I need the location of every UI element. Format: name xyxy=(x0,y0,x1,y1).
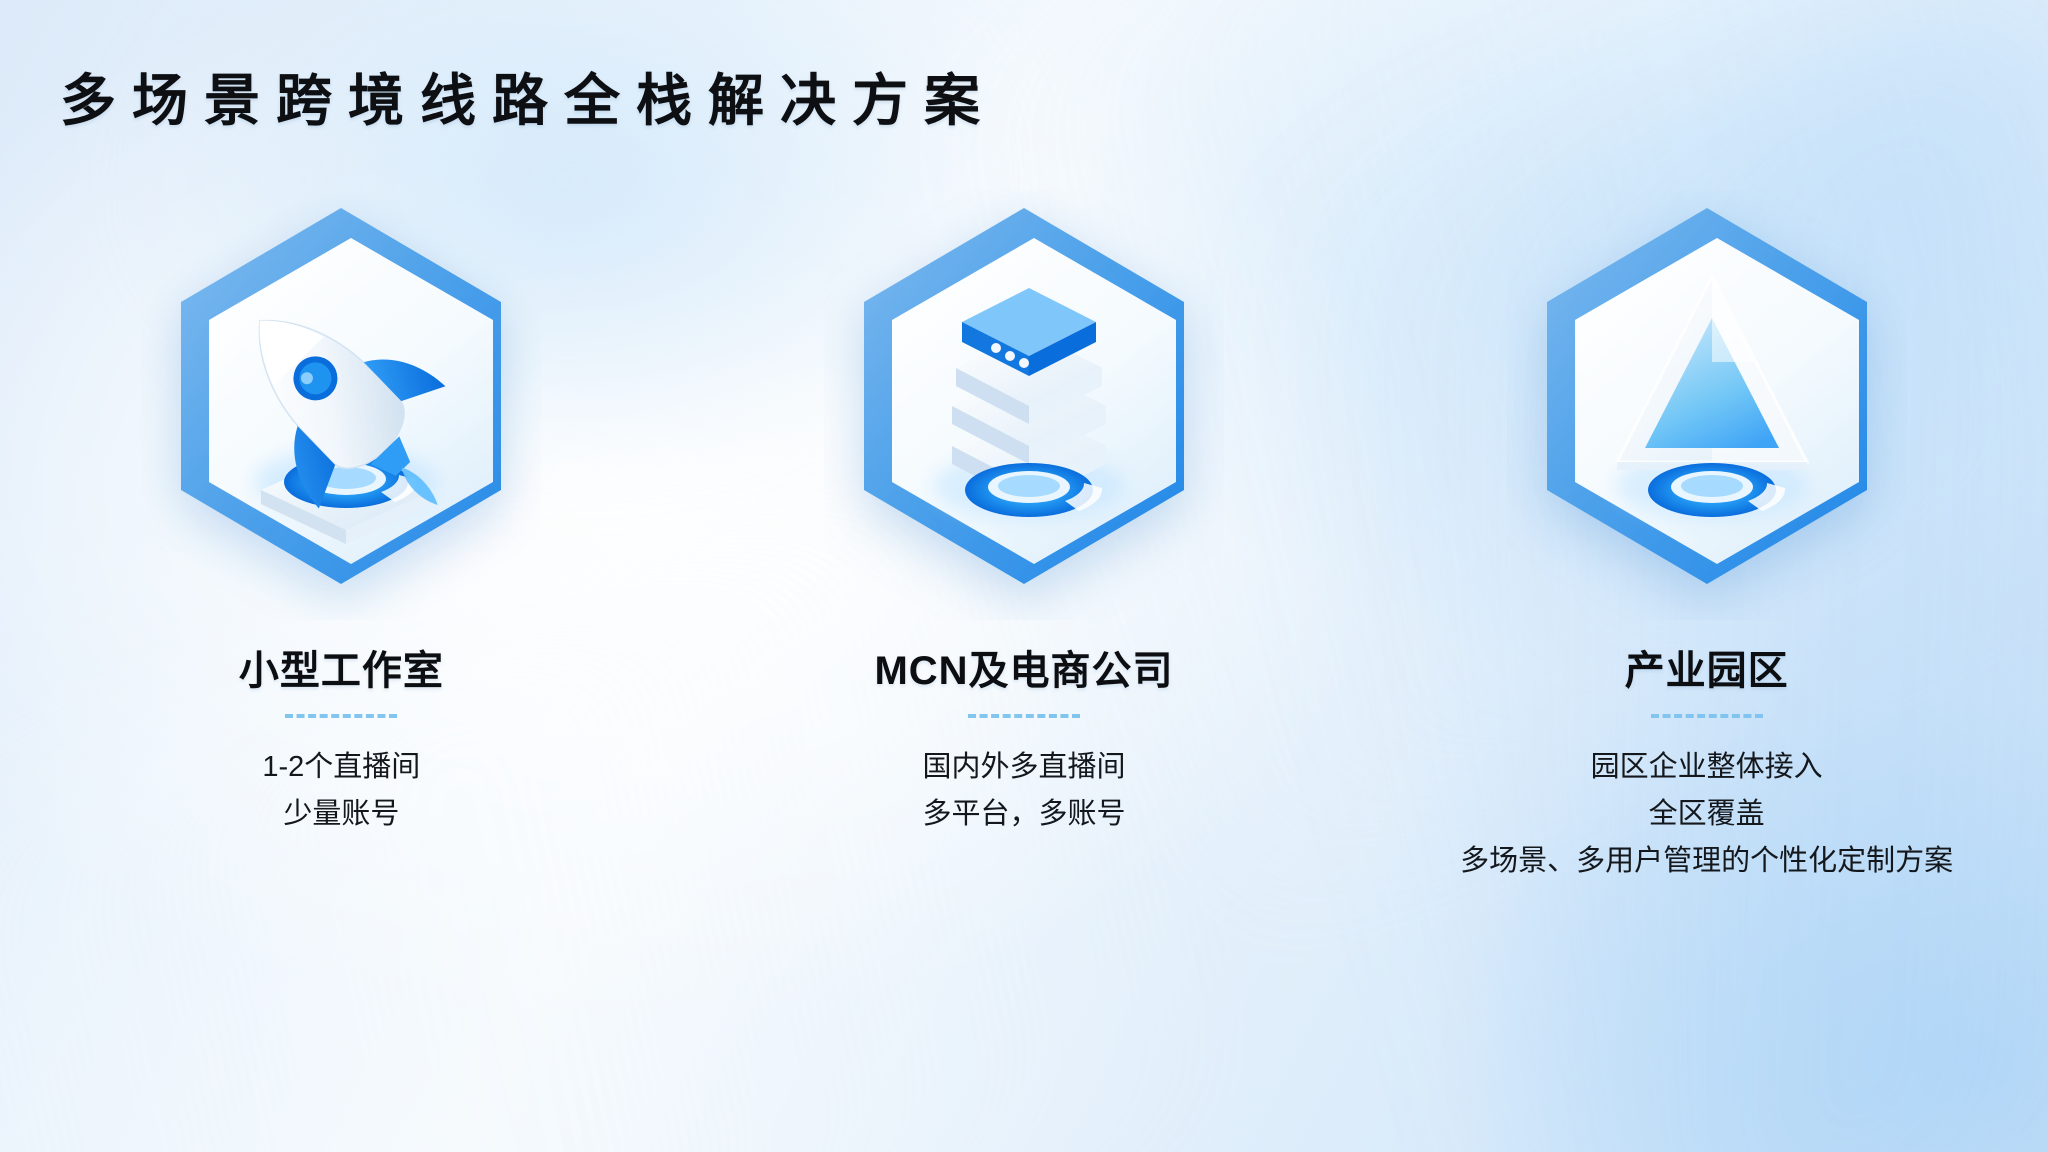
card-divider xyxy=(1651,714,1763,718)
card-description: 园区企业整体接入 全区覆盖 多场景、多用户管理的个性化定制方案 xyxy=(1460,744,1953,885)
card-description-line: 全区覆盖 xyxy=(1460,791,1953,838)
card-description: 国内外多直播间 多平台，多账号 xyxy=(923,744,1126,838)
solution-card-row: 小型工作室 1-2个直播间 少量账号 xyxy=(0,190,2048,1090)
card-description-line: 少量账号 xyxy=(262,791,420,838)
card-description-line: 多平台，多账号 xyxy=(923,791,1126,838)
solution-card-small-studio[interactable]: 小型工作室 1-2个直播间 少量账号 xyxy=(0,190,683,1090)
card-title: MCN及电商公司 xyxy=(874,638,1173,696)
card-description-line: 多场景、多用户管理的个性化定制方案 xyxy=(1460,838,1953,885)
rocket-hexagon-icon xyxy=(141,190,541,620)
solution-card-industrial-park[interactable]: 产业园区 园区企业整体接入 全区覆盖 多场景、多用户管理的个性化定制方案 xyxy=(1365,190,2048,1090)
card-divider xyxy=(968,714,1080,718)
solution-card-mcn-ecommerce[interactable]: MCN及电商公司 国内外多直播间 多平台，多账号 xyxy=(683,190,1366,1090)
server-stack-hexagon-icon xyxy=(824,190,1224,620)
card-description: 1-2个直播间 少量账号 xyxy=(262,744,420,838)
card-title: 小型工作室 xyxy=(239,638,444,696)
card-description-line: 1-2个直播间 xyxy=(262,744,420,791)
card-title: 产业园区 xyxy=(1625,638,1789,696)
card-description-line: 国内外多直播间 xyxy=(923,744,1126,791)
pyramid-hexagon-icon xyxy=(1507,190,1907,620)
card-divider xyxy=(285,714,397,718)
poster-canvas: 多场景跨境线路全栈解决方案 xyxy=(0,0,2048,1152)
page-title: 多场景跨境线路全栈解决方案 xyxy=(60,56,996,137)
card-description-line: 园区企业整体接入 xyxy=(1460,744,1953,791)
